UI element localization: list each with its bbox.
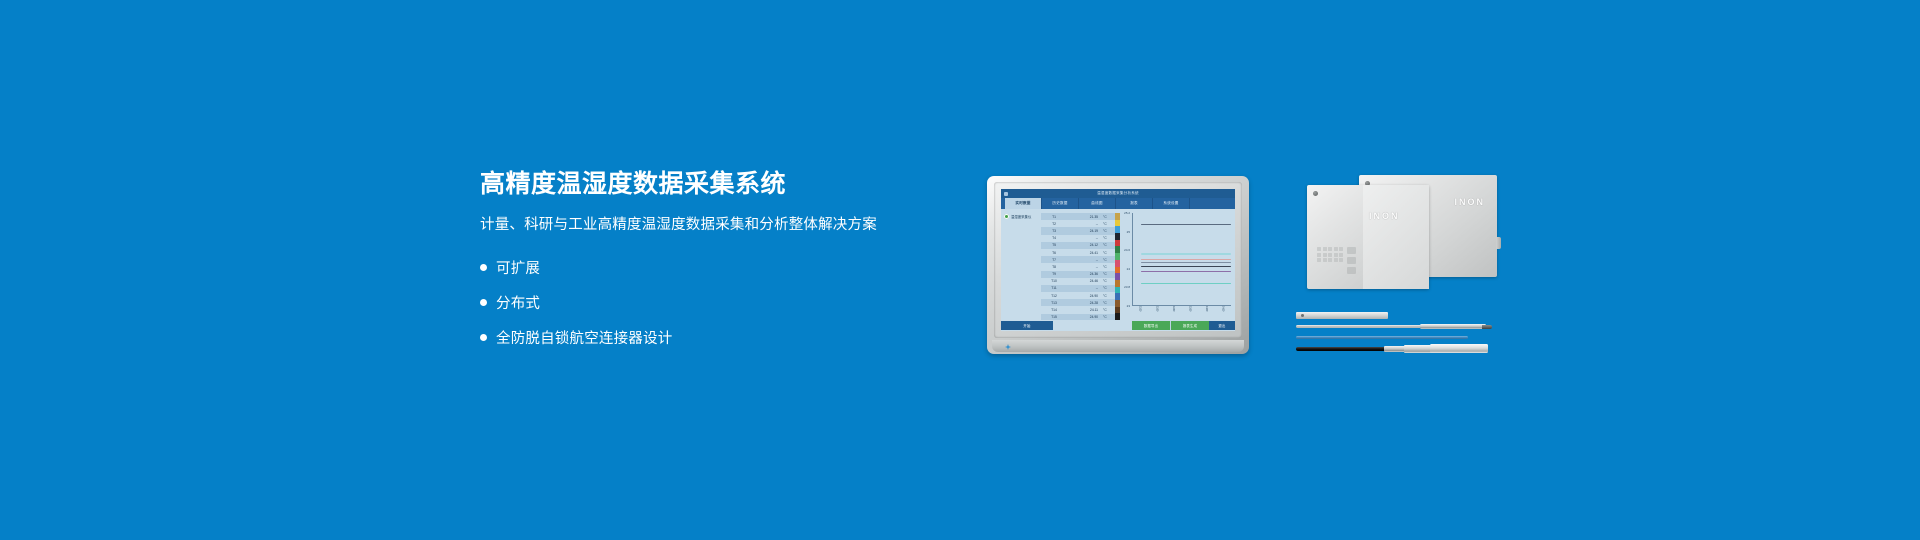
channel-label: T9 (1043, 272, 1065, 276)
channel-label: T15 (1043, 315, 1065, 319)
legend-color-cell (1115, 233, 1120, 240)
chart-series-line (1141, 266, 1231, 267)
app-body: 温湿度采集仪 T121.35°CT2--°CT324.19°CT4--°CT52… (1001, 209, 1235, 320)
chart-x-tick-label: 13:20 (1139, 306, 1142, 311)
status-bar-button-group: 数据导出 报表生成 退出 (1132, 321, 1235, 330)
vent-cell (1328, 253, 1332, 257)
channel-unit: °C (1103, 301, 1113, 305)
chart-x-tick-label: 14:10 (1221, 306, 1224, 311)
vent-cell (1323, 247, 1327, 251)
monitor-screen: 温湿度数据采集分析系统 实时数据 历史数据 曲线图 报表 系统设置 温湿度采集仪 (1001, 189, 1235, 331)
chart-series-line (1141, 262, 1231, 263)
port-cell (1347, 257, 1356, 264)
channel-unit: °C (1103, 215, 1113, 219)
legend-color-cell (1115, 300, 1120, 307)
channel-label: T6 (1043, 251, 1065, 255)
tab-realtime-data[interactable]: 实时数据 (1005, 198, 1042, 209)
channel-value: 24.36 (1065, 272, 1103, 276)
chart-series-line (1141, 271, 1231, 272)
list-item: 可扩展 (480, 255, 1000, 281)
channel-value: 21.35 (1065, 215, 1103, 219)
table-row[interactable]: T924.36°C (1041, 271, 1115, 278)
port-bank-icon (1347, 247, 1356, 274)
channel-unit: °C (1103, 272, 1113, 276)
channel-unit: °C (1103, 294, 1113, 298)
page-title: 高精度温湿度数据采集系统 (480, 170, 1000, 199)
legend-color-cell (1115, 307, 1120, 314)
vent-cell (1323, 253, 1327, 257)
vent-cell (1339, 258, 1343, 262)
channel-unit: °C (1103, 279, 1113, 283)
channel-unit: °C (1103, 258, 1113, 262)
channel-label: T7 (1043, 258, 1065, 262)
chart-series-line (1141, 253, 1231, 254)
monitor-base (992, 340, 1244, 352)
bullet-dot-icon (480, 334, 487, 341)
legend-color-cell (1115, 287, 1120, 294)
channel-unit: °C (1103, 222, 1113, 226)
channel-label: T1 (1043, 215, 1065, 219)
legend-color-cell (1115, 246, 1120, 253)
module-front-unit: INON (1307, 185, 1429, 289)
bullet-dot-icon (480, 264, 487, 271)
channel-color-legend (1115, 213, 1120, 320)
table-row[interactable]: T11--°C (1041, 285, 1115, 292)
cable-sheath (1296, 336, 1468, 339)
vent-cell (1317, 258, 1321, 262)
tab-report[interactable]: 报表 (1116, 198, 1153, 209)
sidebar-item-device[interactable]: 温湿度采集仪 (1004, 214, 1038, 219)
panel-pc-monitor: 温湿度数据采集分析系统 实时数据 历史数据 曲线图 报表 系统设置 温湿度采集仪 (987, 176, 1249, 354)
vent-cell (1328, 247, 1332, 251)
legend-color-cell (1115, 273, 1120, 280)
probe-ferrule (1420, 324, 1486, 329)
app-titlebar: 温湿度数据采集分析系统 (1001, 189, 1235, 198)
page-subtitle: 计量、科研与工业高精度温湿度数据采集和分析整体解决方案 (480, 216, 1000, 235)
channel-value: 24.12 (1065, 243, 1103, 247)
channel-value: -- (1065, 286, 1103, 290)
generate-report-button[interactable]: 报表生成 (1170, 321, 1209, 330)
table-row[interactable]: T8--°C (1041, 263, 1115, 270)
channel-value: 24.90 (1065, 315, 1103, 319)
vent-cell (1334, 247, 1338, 251)
chart-x-tick-label: 13:40 (1172, 306, 1175, 311)
sidebar-item-label: 温湿度采集仪 (1011, 214, 1031, 219)
legend-color-cell (1115, 293, 1120, 300)
chart-series-line (1141, 224, 1231, 225)
channel-label: T10 (1043, 279, 1065, 283)
channel-value: 24.90 (1065, 294, 1103, 298)
probe-tip (1482, 325, 1492, 329)
vent-cell (1328, 258, 1332, 262)
chart-x-axis: 13:2013:3013:4013:5014:0014:10 (1132, 306, 1231, 320)
channel-unit: °C (1103, 243, 1113, 247)
channel-value: 24.11 (1065, 308, 1103, 312)
sensor-probe-group (1296, 312, 1506, 356)
chart-series-line (1141, 283, 1231, 284)
list-item: 全防脱自锁航空连接器设计 (480, 325, 1000, 351)
tab-history-data[interactable]: 历史数据 (1042, 198, 1079, 209)
channel-label: T12 (1043, 294, 1065, 298)
channel-label: T3 (1043, 229, 1065, 233)
connector-cap (1430, 344, 1488, 353)
channel-unit: °C (1103, 286, 1113, 290)
feature-label: 分布式 (496, 292, 540, 313)
screw-icon (1313, 191, 1318, 196)
vent-cell (1317, 247, 1321, 251)
table-row[interactable]: T1224.90°C (1041, 292, 1115, 299)
vent-cell (1339, 253, 1343, 257)
feature-list: 可扩展 分布式 全防脱自锁航空连接器设计 (480, 255, 1000, 351)
chart-y-tick-label: 24 (1127, 267, 1130, 271)
table-row[interactable]: T1024.46°C (1041, 278, 1115, 285)
chart-y-tick-label: 23 (1127, 304, 1130, 308)
chart-y-tick-label: 23.8 (1124, 285, 1130, 289)
port-cell (1347, 267, 1356, 274)
vent-cell (1339, 247, 1343, 251)
app-status-bar: 开始 数据导出 报表生成 退出 (1001, 320, 1235, 331)
table-row[interactable]: T324.19°C (1041, 227, 1115, 234)
probe-shaft (1296, 325, 1422, 328)
channel-label: T11 (1043, 286, 1065, 290)
channel-label: T13 (1043, 301, 1065, 305)
module-side-connector (1496, 237, 1501, 249)
channel-label: T8 (1043, 265, 1065, 269)
chart-plot-area (1132, 213, 1231, 306)
vent-cell (1334, 258, 1338, 262)
legend-color-cell (1115, 240, 1120, 247)
vent-cell (1334, 253, 1338, 257)
legend-color-cell (1115, 280, 1120, 287)
brand-label: INON (1455, 197, 1486, 207)
chart-y-tick-label: 25 (1127, 230, 1130, 234)
legend-color-cell (1115, 220, 1120, 227)
chart-y-axis: 25.22524.62423.823 (1122, 213, 1131, 306)
app-tab-bar: 实时数据 历史数据 曲线图 报表 系统设置 (1001, 198, 1235, 209)
feature-label: 可扩展 (496, 257, 540, 278)
channel-value: 24.46 (1065, 279, 1103, 283)
chart-y-tick-label: 24.6 (1124, 248, 1130, 252)
channel-value: 24.28 (1065, 301, 1103, 305)
channel-label: T5 (1043, 243, 1065, 247)
device-online-icon (1004, 214, 1009, 219)
clip-plate-body (1296, 312, 1388, 319)
channel-unit: °C (1103, 236, 1113, 240)
device-tree-sidebar: 温湿度采集仪 (1001, 209, 1041, 320)
list-item: 分布式 (480, 290, 1000, 316)
legend-color-cell (1115, 260, 1120, 267)
channel-unit: °C (1103, 315, 1113, 319)
channel-label: T2 (1043, 222, 1065, 226)
channel-unit: °C (1103, 265, 1113, 269)
vent-grille-icon (1317, 247, 1343, 262)
channel-data-table: T121.35°CT2--°CT324.19°CT4--°CT524.12°CT… (1041, 209, 1115, 320)
export-data-button[interactable]: 数据导出 (1132, 321, 1170, 330)
acquisition-modules: INON INON (1307, 175, 1497, 300)
channel-label: T14 (1043, 308, 1065, 312)
trend-chart: 25.22524.62423.823 13:2013:3013:4013:501… (1122, 209, 1235, 320)
channel-value: -- (1065, 265, 1103, 269)
table-row[interactable]: T624.41°C (1041, 249, 1115, 256)
table-row[interactable]: T524.12°C (1041, 242, 1115, 249)
channel-value: -- (1065, 222, 1103, 226)
brand-label: INON (1369, 211, 1400, 221)
cable-sheath (1296, 347, 1388, 351)
channel-unit: °C (1103, 229, 1113, 233)
legend-color-cell (1115, 226, 1120, 233)
exit-button[interactable]: 退出 (1209, 321, 1235, 330)
table-row[interactable]: T1324.28°C (1041, 299, 1115, 306)
channel-value: 24.19 (1065, 229, 1103, 233)
legend-color-cell (1115, 267, 1120, 274)
table-row[interactable]: T4--°C (1041, 235, 1115, 242)
chart-x-tick-label: 13:30 (1155, 306, 1158, 311)
chart-x-tick-label: 13:50 (1188, 306, 1191, 311)
channel-unit: °C (1103, 308, 1113, 312)
legend-color-cell (1115, 253, 1120, 260)
chart-y-tick-label: 25.2 (1124, 211, 1130, 215)
channel-unit: °C (1103, 251, 1113, 255)
channel-label: T4 (1043, 236, 1065, 240)
start-button[interactable]: 开始 (1001, 321, 1053, 330)
banner-copy-block: 高精度温湿度数据采集系统 计量、科研与工业高精度温湿度数据采集和分析整体解决方案… (480, 170, 1000, 360)
table-row[interactable]: T121.35°C (1041, 213, 1115, 220)
clip-hole-icon (1301, 314, 1304, 317)
product-banner: 高精度温湿度数据采集系统 计量、科研与工业高精度温湿度数据采集和分析整体解决方案… (0, 0, 1920, 540)
legend-color-cell (1115, 313, 1120, 320)
aviation-connector-shell (1404, 345, 1432, 353)
vent-cell (1317, 253, 1321, 257)
chart-x-tick-label: 14:00 (1205, 306, 1208, 311)
channel-value: 24.41 (1065, 251, 1103, 255)
port-cell (1347, 247, 1356, 254)
tab-curve-chart[interactable]: 曲线图 (1079, 198, 1116, 209)
table-row[interactable]: T2--°C (1041, 220, 1115, 227)
channel-value: -- (1065, 236, 1103, 240)
legend-color-cell (1115, 213, 1120, 220)
feature-label: 全防脱自锁航空连接器设计 (496, 327, 672, 348)
channel-value: -- (1065, 258, 1103, 262)
chart-series-line (1141, 259, 1231, 260)
module-face-panel (1363, 185, 1429, 289)
table-row[interactable]: T7--°C (1041, 256, 1115, 263)
strain-relief (1384, 346, 1406, 352)
app-window-title: 温湿度数据采集分析系统 (1001, 189, 1235, 198)
tab-system-settings[interactable]: 系统设置 (1153, 198, 1190, 209)
vent-cell (1323, 258, 1327, 262)
table-row[interactable]: T1424.11°C (1041, 306, 1115, 313)
bullet-dot-icon (480, 299, 487, 306)
